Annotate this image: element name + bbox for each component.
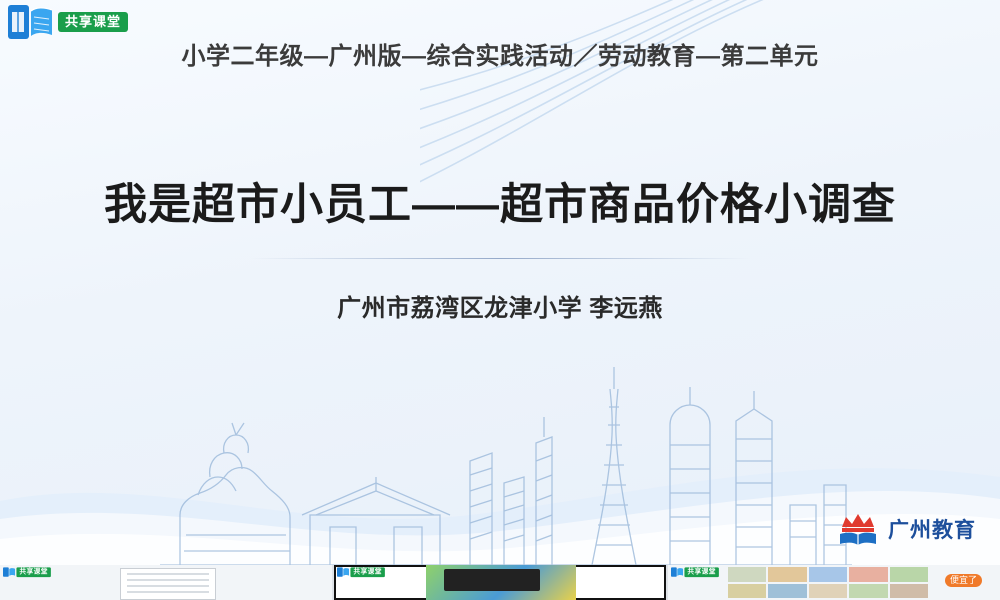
thumb-2-logo: 共享课堂 (337, 567, 385, 577)
course-breadcrumb: 小学二年级—广州版—综合实践活动／劳动教育—第二单元 (0, 36, 1000, 71)
slide-title: 我是超市小员工——超市商品价格小调查 (0, 170, 1000, 232)
thumb-3-tag: 便宜了 (945, 574, 982, 587)
slide-filmstrip[interactable]: 共享课堂 共享课堂 共享课堂 便宜了 (0, 565, 1000, 600)
slide-canvas: 共享课堂 小学二年级—广州版—综合实践活动／劳动教育—第二单元 我是超市小员工—… (0, 0, 1000, 565)
thumbnail-slide-3[interactable]: 共享课堂 便宜了 (668, 565, 1000, 600)
logo-badge-label: 共享课堂 (58, 12, 128, 32)
guangzhou-education-label: 广州教育 (888, 514, 976, 544)
title-divider (250, 258, 750, 259)
thumb-3-content (728, 567, 928, 598)
thumb-3-logo: 共享课堂 (671, 567, 719, 577)
open-book-icon (337, 567, 350, 577)
thumbnail-slide-2[interactable]: 共享课堂 (334, 565, 666, 600)
thumb-1-logo: 共享课堂 (3, 567, 51, 577)
thumbnail-slide-1[interactable]: 共享课堂 (0, 565, 332, 600)
open-book-icon (671, 567, 684, 577)
thumb-1-content (120, 568, 216, 600)
thumb-1-badge: 共享课堂 (16, 567, 50, 577)
slide-author: 广州市荔湾区龙津小学 李远燕 (0, 288, 1000, 323)
crown-book-icon (837, 511, 879, 547)
brand-logo: 共享课堂 (8, 4, 128, 40)
guangzhou-education-logo: 广州教育 (837, 511, 976, 547)
guangzhou-skyline-illustration (140, 365, 860, 565)
open-book-icon (3, 567, 16, 577)
open-book-icon (8, 4, 54, 40)
thumb-2-badge: 共享课堂 (350, 567, 384, 577)
thumb-2-content (426, 565, 576, 600)
thumb-3-badge: 共享课堂 (684, 567, 718, 577)
